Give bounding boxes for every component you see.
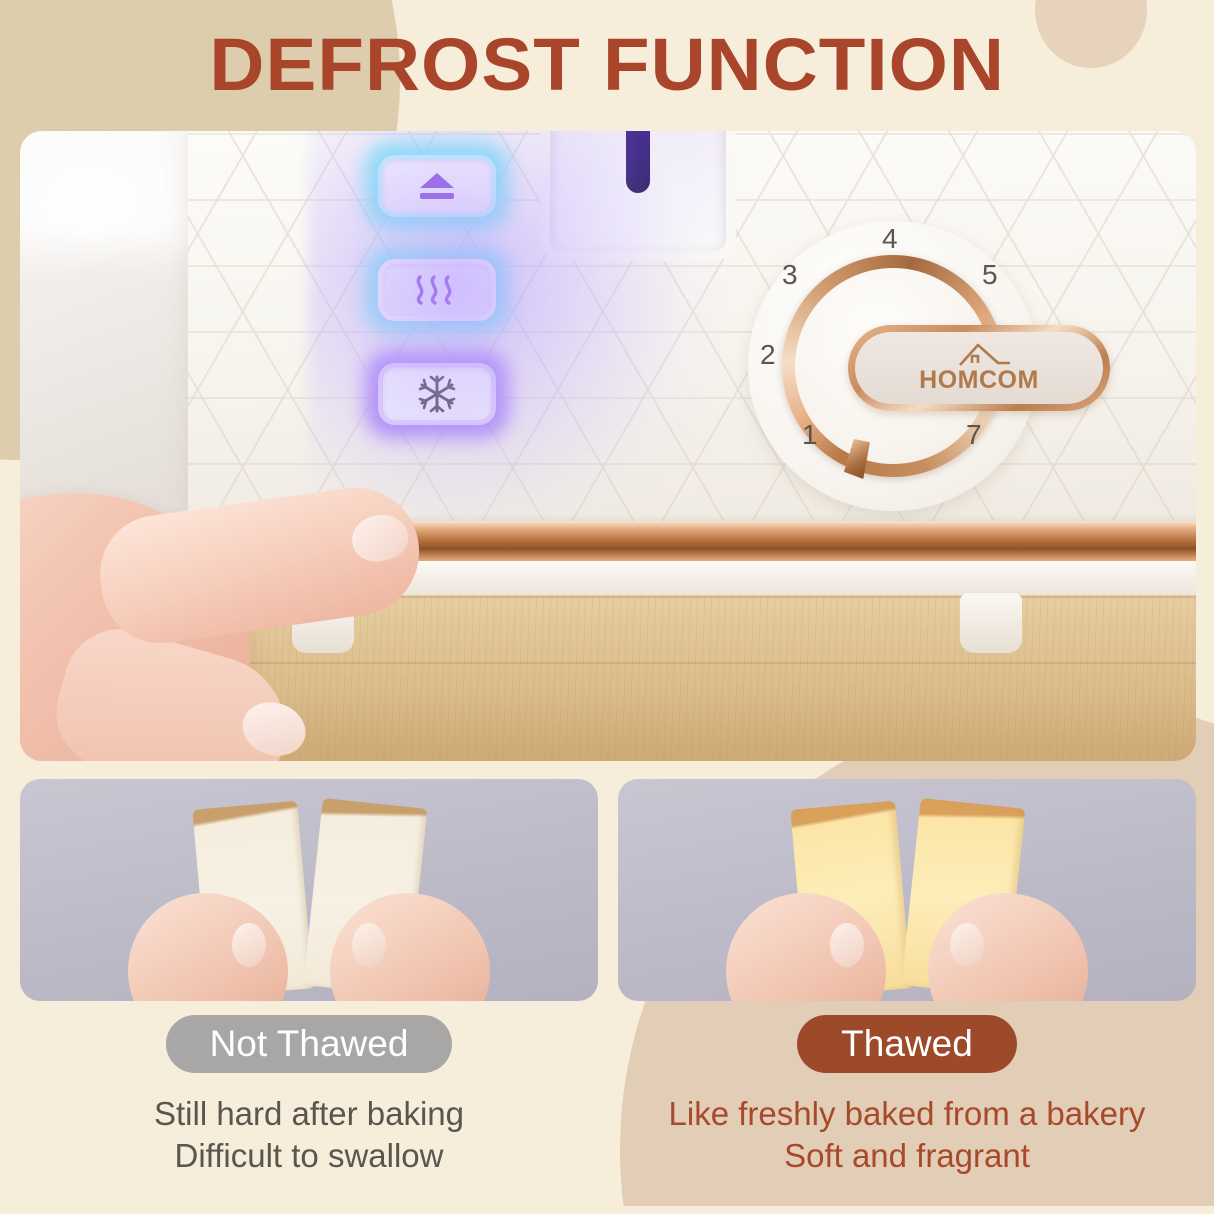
dial-number-3: 3	[782, 259, 798, 291]
comparison-labels: Not Thawed Still hard after baking Diffi…	[20, 1015, 1196, 1177]
status-badge-not-thawed: Not Thawed	[166, 1015, 453, 1073]
carriage-lever-slot[interactable]	[540, 131, 736, 261]
reheat-button[interactable]	[378, 259, 496, 321]
caption-line: Difficult to swallow	[154, 1135, 464, 1177]
dial-number-2: 2	[760, 339, 776, 371]
caption-line: Soft and fragrant	[669, 1135, 1146, 1177]
dial-number-1: 1	[802, 419, 818, 451]
defrost-button[interactable]	[378, 363, 496, 425]
status-badge-thawed: Thawed	[797, 1015, 1017, 1073]
dial-number-5: 5	[982, 259, 998, 291]
brand-badge-inner: HOMCOM	[855, 332, 1103, 404]
control-button-column	[378, 155, 496, 467]
reheat-waves-icon	[410, 273, 464, 307]
button-face	[378, 259, 496, 321]
button-face	[378, 363, 496, 425]
carriage-lever-shaft	[626, 131, 650, 193]
caption-not-thawed: Still hard after baking Difficult to swa…	[154, 1093, 464, 1177]
snowflake-icon	[417, 374, 457, 414]
house-roof-icon	[942, 341, 1016, 367]
dial-number-4: 4	[882, 223, 898, 255]
finger-nail	[352, 923, 386, 967]
label-column-thawed: Thawed Like freshly baked from a bakery …	[618, 1015, 1196, 1177]
page-title: DEFROST FUNCTION	[209, 22, 1005, 107]
comparison-cards	[20, 779, 1196, 1001]
caption-line: Still hard after baking	[154, 1093, 464, 1135]
finger-nail	[830, 923, 864, 967]
button-face	[378, 155, 496, 217]
finger-nail	[950, 923, 984, 967]
caption-line: Like freshly baked from a bakery	[669, 1093, 1146, 1135]
finger-nail	[232, 923, 266, 967]
label-column-not-thawed: Not Thawed Still hard after baking Diffi…	[20, 1015, 598, 1177]
eject-button[interactable]	[378, 155, 496, 217]
pressing-hand	[20, 431, 410, 761]
brand-name: HOMCOM	[919, 366, 1039, 395]
brand-badge: HOMCOM	[848, 325, 1110, 411]
hero-product-image: 2 3 4 5 6 7 1 HOMCOM	[20, 131, 1196, 761]
eject-icon	[414, 170, 460, 202]
dial-number-7: 7	[966, 419, 982, 451]
caption-thawed: Like freshly baked from a bakery Soft an…	[669, 1093, 1146, 1177]
comparison-card-not-thawed	[20, 779, 598, 1001]
comparison-card-thawed	[618, 779, 1196, 1001]
header: DEFROST FUNCTION	[0, 0, 1214, 128]
toaster-foot	[960, 593, 1022, 653]
decorative-bottom-strip	[0, 1206, 1214, 1214]
